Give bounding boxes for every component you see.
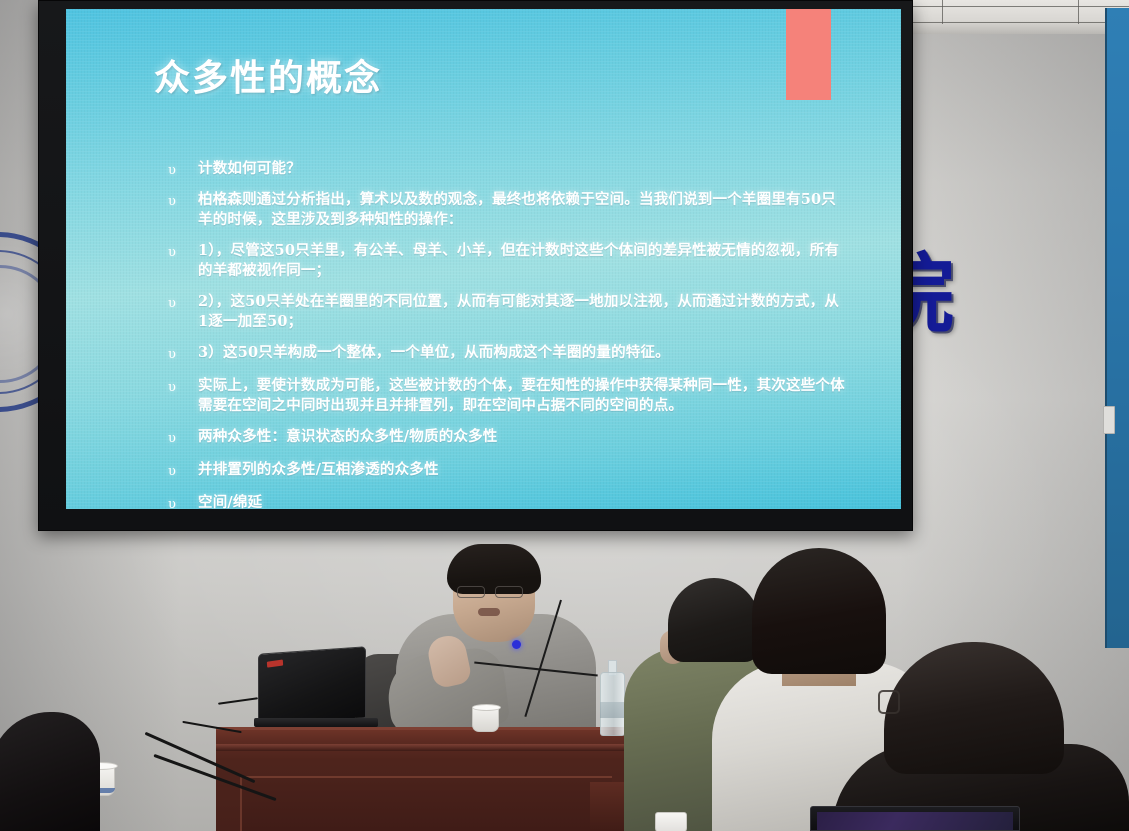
bullet-text: 并排置列的众多性/互相渗透的众多性 [198,460,849,480]
bullet-text: 2），这50只羊处在羊圈里的不同位置，从而有可能对其逐一地加以注视，从而通过计数… [198,292,849,332]
water-bottle[interactable] [600,656,625,736]
bullet-marker-icon: υ [168,427,198,449]
attendee-olive-head [668,578,760,662]
attendee-white-head [752,548,886,674]
bullet-marker-icon: υ [168,376,198,398]
slide-accent-block [786,9,831,100]
lapel-badge [512,640,521,649]
bullet-marker-icon: υ [168,460,198,482]
laptop-logo-icon [267,659,283,667]
bullet-text: 柏格森则通过分析指出，算术以及数的观念，最终也将依赖于空间。当我们说到一个羊圈里… [198,190,849,230]
list-item: υ 计数如何可能？ [168,159,849,181]
list-item: υ 柏格森则通过分析指出，算术以及数的观念，最终也将依赖于空间。当我们说到一个羊… [168,190,849,230]
bullet-marker-icon: υ [168,493,198,509]
bottle-label [600,702,625,718]
list-item: υ 两种众多性：意识状态的众多性/物质的众多性 [168,427,849,449]
projection-screen[interactable]: 众多性的概念 υ 计数如何可能？ υ 柏格森则通过分析指出，算术以及数的观念，最… [66,9,901,509]
laptop[interactable] [258,650,370,730]
attendee-left-silhouette [0,712,100,831]
bullet-text: 空间/绵延 [198,493,849,509]
bullet-text: 两种众多性：意识状态的众多性/物质的众多性 [198,427,849,447]
list-item: υ 3）这50只羊构成一个整体，一个单位，从而构成这个羊圈的量的特征。 [168,343,849,365]
laptop-lid [258,646,366,726]
glasses-icon [878,690,900,714]
slide-title: 众多性的概念 [154,49,382,101]
projection-screen-frame: 众多性的概念 υ 计数如何可能？ υ 柏格森则通过分析指出，算术以及数的观念，最… [38,0,913,531]
podium [216,727,636,831]
lecture-hall-scene: 院 ity S c h o o l o f P h i 众多性的概念 [0,0,1129,831]
list-item: υ 实际上，要使计数成为可能，这些被计数的个体，要在知性的操作中获得某种同一性，… [168,376,849,416]
bullet-text: 计数如何可能？ [198,159,849,179]
wall-blue-panel [1105,8,1129,648]
paper-cup-center[interactable] [655,812,687,831]
bullet-marker-icon: υ [168,241,198,263]
bullet-text: 1），尽管这50只羊里，有公羊、母羊、小羊，但在计数时这些个体间的差异性被无情的… [198,241,849,281]
bullet-marker-icon: υ [168,343,198,365]
podium-panel [240,776,612,831]
bullet-marker-icon: υ [168,190,198,212]
ceiling-tiles [880,0,1129,34]
laptop-base [254,718,378,727]
list-item: υ 并排置列的众多性/互相渗透的众多性 [168,460,849,482]
audience-laptop-screen [817,812,1013,830]
glasses-icon [455,586,529,598]
bullet-text: 3）这50只羊构成一个整体，一个单位，从而构成这个羊圈的量的特征。 [198,343,849,363]
bullet-marker-icon: υ [168,292,198,314]
bullet-text: 实际上，要使计数成为可能，这些被计数的个体，要在知性的操作中获得某种同一性，其次… [198,376,849,416]
slide-bullet-list: υ 计数如何可能？ υ 柏格森则通过分析指出，算术以及数的观念，最终也将依赖于空… [168,159,849,509]
panel-latch[interactable] [1103,406,1115,434]
bullet-marker-icon: υ [168,159,198,181]
podium-lip [216,744,636,751]
lecturer-mouth [478,608,500,616]
list-item: υ 1），尽管这50只羊里，有公羊、母羊、小羊，但在计数时这些个体间的差异性被无… [168,241,849,281]
presentation-slide: 众多性的概念 υ 计数如何可能？ υ 柏格森则通过分析指出，算术以及数的观念，最… [66,9,901,509]
list-item: υ 空间/绵延 [168,493,849,509]
coffee-cup-podium[interactable] [472,706,499,732]
list-item: υ 2），这50只羊处在羊圈里的不同位置，从而有可能对其逐一地加以注视，从而通过… [168,292,849,332]
audience-laptop[interactable] [810,806,1020,831]
